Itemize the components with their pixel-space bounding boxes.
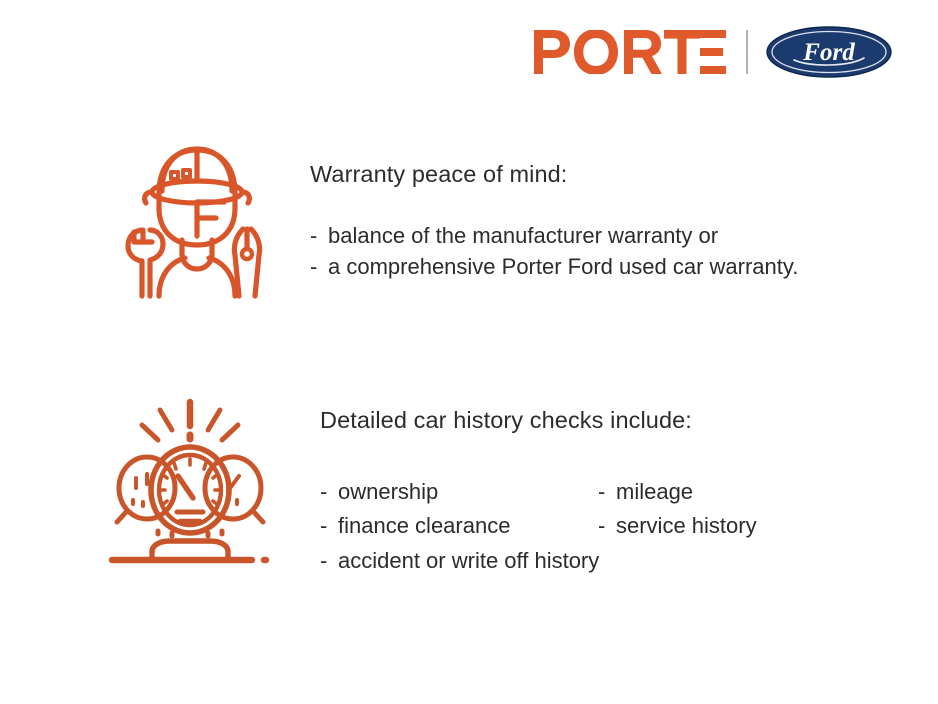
brand-divider: [746, 30, 748, 74]
bullet-dash: -: [320, 547, 338, 575]
bullet-label: service history: [616, 512, 757, 540]
bullet-dash: -: [310, 253, 328, 281]
history-bullet-list: - ownership - mileage - finance clearanc…: [320, 478, 757, 574]
car-dashboard-gauges-icon: [100, 392, 280, 570]
bullet-dash: -: [310, 222, 328, 250]
bullet-dash: -: [598, 478, 616, 506]
bullet-label: balance of the manufacturer warranty or: [328, 222, 718, 250]
list-item: - ownership - mileage: [320, 478, 757, 506]
mechanic-hard-hat-icon: [112, 136, 282, 301]
porter-wordmark: [534, 30, 730, 74]
bullet-label: finance clearance: [338, 512, 510, 540]
list-item: - a comprehensive Porter Ford used car w…: [310, 253, 798, 281]
section-warranty-body: Warranty peace of mind: - balance of the…: [310, 136, 798, 285]
bullet-label: ownership: [338, 478, 438, 506]
history-heading: Detailed car history checks include:: [320, 406, 757, 434]
slide-canvas: Ford: [0, 0, 938, 704]
brand-lockup: Ford: [534, 22, 892, 82]
list-item: - finance clearance - service history: [320, 512, 757, 540]
ford-logo-text: Ford: [802, 39, 855, 66]
bullet-dash: -: [320, 478, 338, 506]
warranty-bullet-list: - balance of the manufacturer warranty o…: [310, 222, 798, 281]
bullet-dash: -: [320, 512, 338, 540]
bullet-label: a comprehensive Porter Ford used car war…: [328, 253, 798, 281]
bullet-label: accident or write off history: [338, 547, 599, 575]
list-item: - accident or write off history: [320, 547, 757, 575]
section-history-body: Detailed car history checks include: - o…: [320, 392, 757, 581]
bullet-dash: -: [598, 512, 616, 540]
list-item: - balance of the manufacturer warranty o…: [310, 222, 798, 250]
ford-logo: Ford: [766, 26, 892, 78]
warranty-heading: Warranty peace of mind:: [310, 160, 798, 188]
section-history: Detailed car history checks include: - o…: [100, 392, 757, 581]
section-warranty: Warranty peace of mind: - balance of the…: [112, 136, 798, 301]
bullet-label: mileage: [616, 478, 693, 506]
